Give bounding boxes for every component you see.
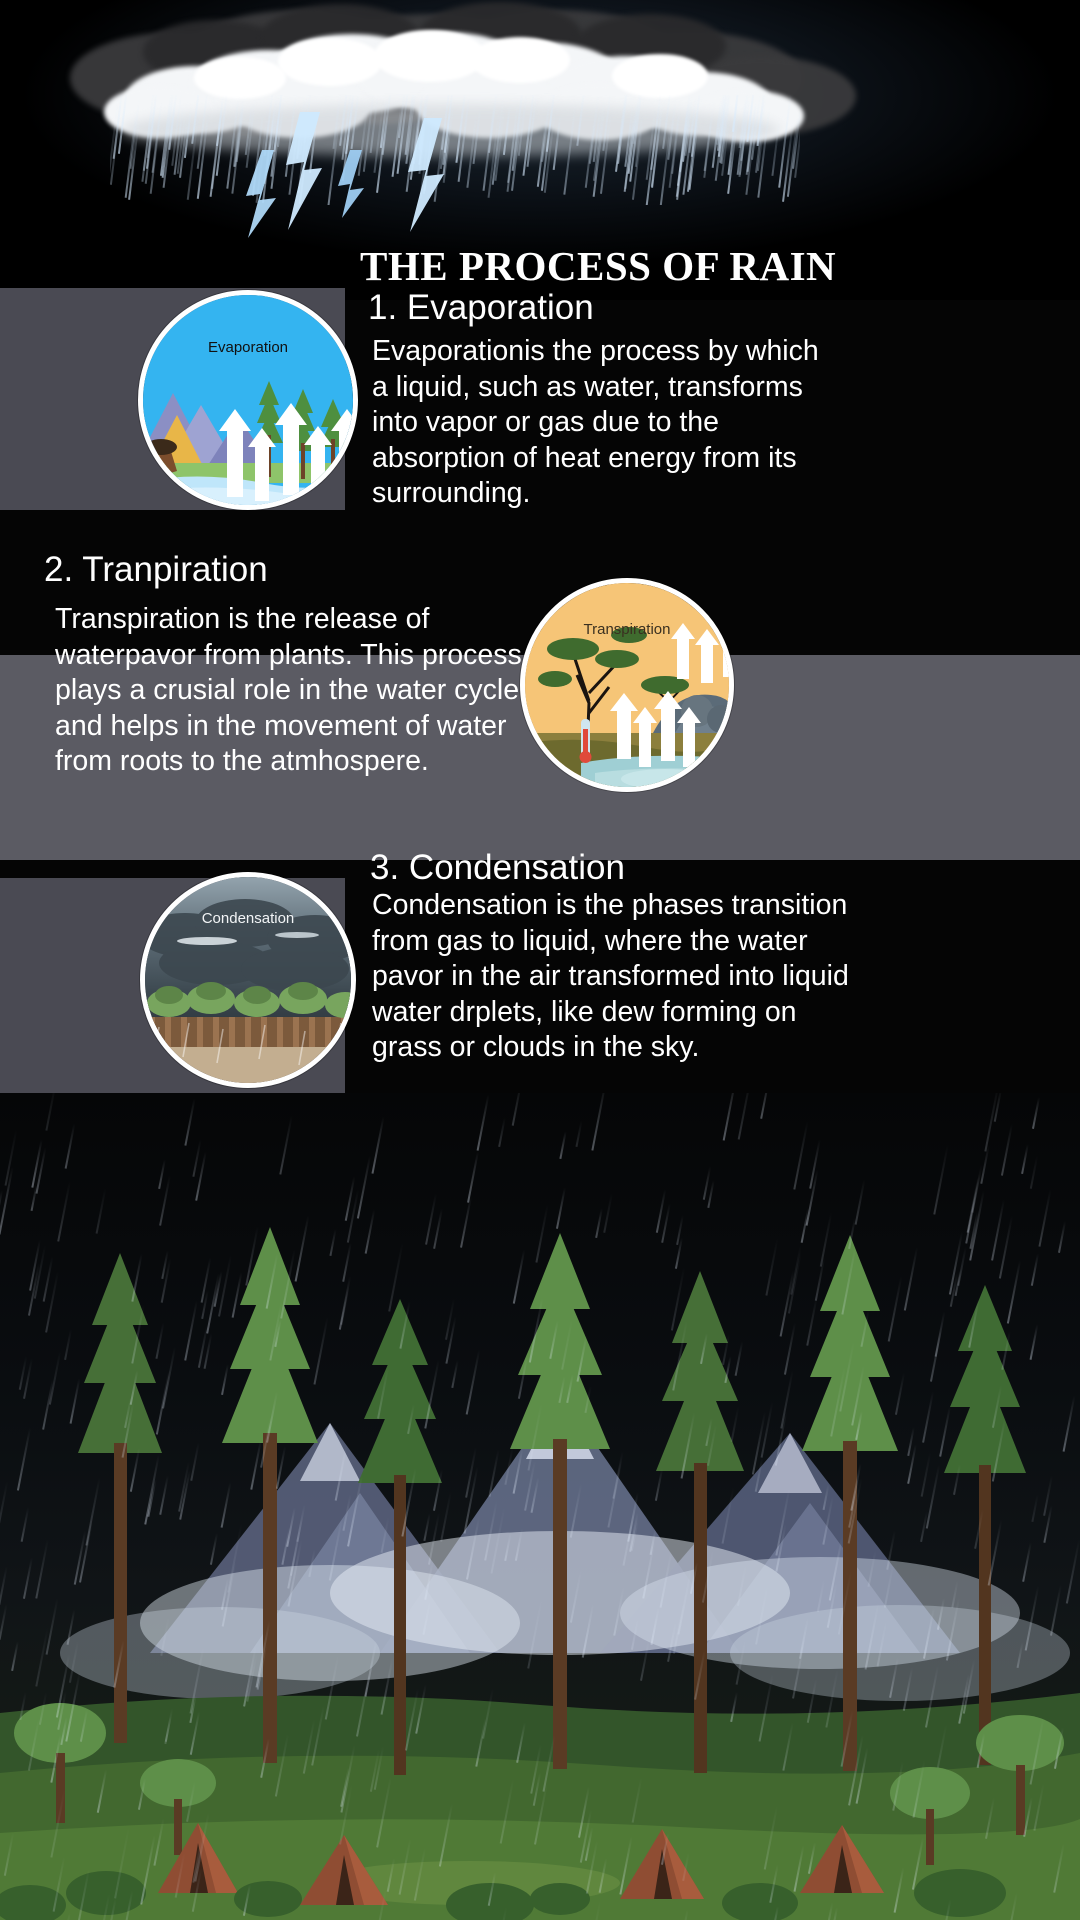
evaporation-circle-label: Evaporation (143, 339, 353, 356)
section-3-heading: 3. Condensation (370, 848, 625, 888)
page-title: THE PROCESS OF RAIN (360, 242, 836, 290)
condensation-illustration: Condensation (140, 872, 356, 1088)
transpiration-illustration: Transpiration (520, 578, 734, 792)
section-1-body: Evaporationis the process by which a liq… (372, 334, 842, 512)
section-2-body: Transpiration is the release of waterpav… (55, 602, 530, 780)
evaporation-landscape (143, 295, 358, 510)
transpiration-circle-label: Transpiration (525, 621, 729, 638)
section-3-body: Condensation is the phases transition fr… (372, 888, 872, 1066)
forest-landscape (0, 1093, 1080, 1920)
section-1-heading: 1. Evaporation (368, 288, 594, 328)
transpiration-landscape (525, 583, 734, 792)
condensation-circle-label: Condensation (145, 910, 351, 927)
forest-scene-illustration (0, 1093, 1080, 1920)
condensation-landscape (145, 877, 356, 1088)
infographic-poster: THE PROCESS OF RAIN (0, 0, 1080, 1920)
evaporation-illustration: Evaporation (138, 290, 358, 510)
section-2-heading: 2. Tranpiration (44, 550, 268, 590)
